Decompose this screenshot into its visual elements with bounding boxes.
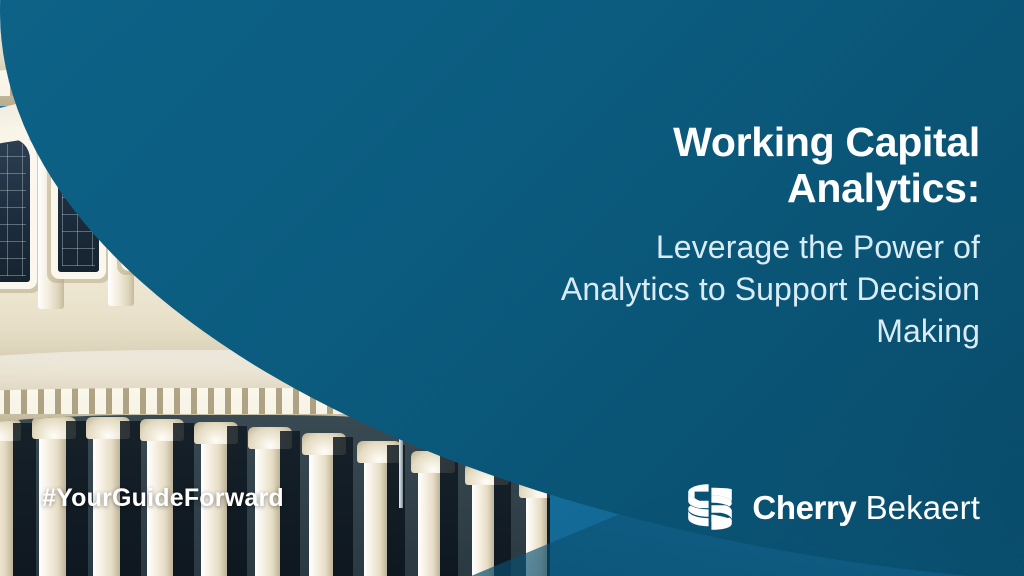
colonnade-recess (440, 455, 458, 576)
colonnade-recess (13, 423, 36, 576)
colonnade-recess (333, 437, 352, 576)
brand-logo: Cherry Bekaert (684, 482, 980, 532)
page-title: Working Capital Analytics: (560, 120, 980, 212)
colonnade-column (364, 445, 387, 576)
colonnade-column (418, 455, 441, 576)
cb-monogram-icon (684, 482, 736, 532)
page-subtitle: Leverage the Power of Analytics to Suppo… (560, 226, 980, 353)
colonnade-column (472, 467, 494, 576)
campaign-hashtag: #YourGuideForward (42, 484, 284, 513)
brand-name-bekaert: Bekaert (866, 489, 980, 526)
brand-wordmark: Cherry Bekaert (752, 491, 980, 524)
colonnade-column (309, 437, 333, 576)
arched-window (0, 138, 30, 283)
brand-name-cherry: Cherry (752, 489, 856, 526)
promo-slide: Working Capital Analytics: Leverage the … (0, 0, 1024, 576)
colonnade-column (0, 423, 13, 576)
colonnade-recess (494, 467, 511, 576)
text-block: Working Capital Analytics: Leverage the … (560, 120, 980, 353)
colonnade-column (526, 480, 547, 576)
